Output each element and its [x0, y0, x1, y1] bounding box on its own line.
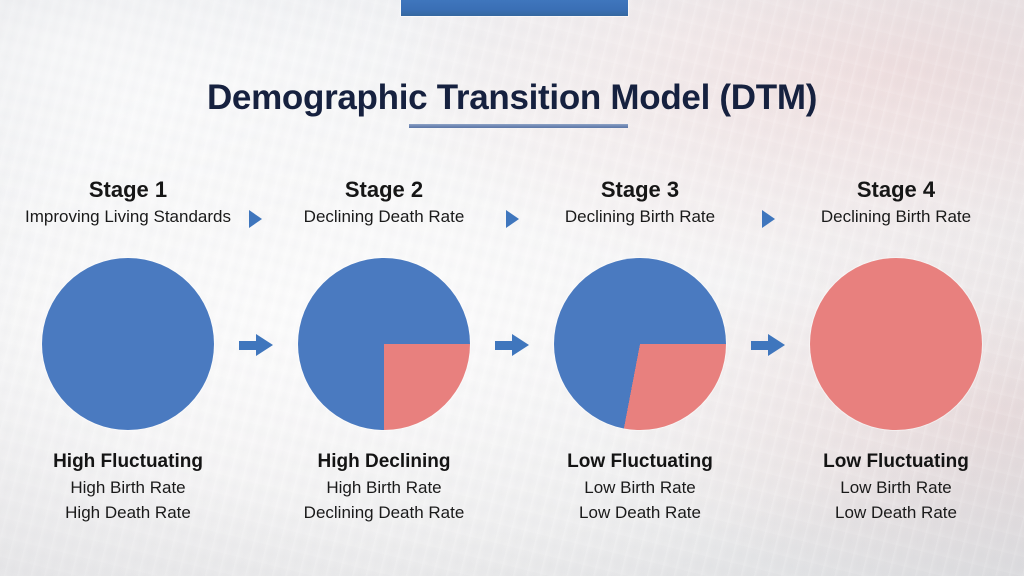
pie-chart-row	[0, 256, 1024, 432]
stage-footer-row: High Fluctuating High Birth Rate High De…	[0, 448, 1024, 525]
stage-footer-3: Low Fluctuating Low Birth Rate Low Death…	[512, 448, 768, 525]
footer-line2-1: High Death Rate	[0, 500, 256, 525]
pie-chart-stage-1	[42, 258, 214, 430]
pie-chart-stage-3	[554, 258, 726, 430]
stage-footer-2: High Declining High Birth Rate Declining…	[256, 448, 512, 525]
page-title: Demographic Transition Model (DTM)	[0, 78, 1024, 118]
footer-line1-2: High Birth Rate	[256, 475, 512, 500]
stage-title-3: Stage 3	[512, 176, 768, 204]
footer-line1-3: Low Birth Rate	[512, 475, 768, 500]
pie-cell-1	[0, 256, 256, 432]
pie-cell-4	[768, 256, 1024, 432]
stage-header-1: Stage 1 Improving Living Standards	[0, 176, 256, 242]
stage-header-2: Stage 2 Declining Death Rate	[256, 176, 512, 242]
footer-line2-3: Low Death Rate	[512, 500, 768, 525]
footer-line1-4: Low Birth Rate	[768, 475, 1024, 500]
title-underline	[409, 124, 628, 128]
footer-title-2: High Declining	[256, 448, 512, 475]
stage-title-2: Stage 2	[256, 176, 512, 204]
stage-footer-1: High Fluctuating High Birth Rate High De…	[0, 448, 256, 525]
footer-title-1: High Fluctuating	[0, 448, 256, 475]
stage-subtitle-1: Improving Living Standards	[0, 205, 256, 229]
slide-canvas: Demographic Transition Model (DTM) Stage…	[0, 0, 1024, 576]
top-accent-bar	[401, 0, 628, 16]
stage-subtitle-3: Declining Birth Rate	[512, 205, 768, 229]
stage-footer-4: Low Fluctuating Low Birth Rate Low Death…	[768, 448, 1024, 525]
footer-line2-2: Declining Death Rate	[256, 500, 512, 525]
stage-subtitle-4: Declining Birth Rate	[768, 205, 1024, 229]
stage-subtitle-2: Declining Death Rate	[256, 205, 512, 229]
pie-cell-3	[512, 256, 768, 432]
stage-title-4: Stage 4	[768, 176, 1024, 204]
stage-header-row: Stage 1 Improving Living Standards Stage…	[0, 176, 1024, 242]
footer-line1-1: High Birth Rate	[0, 475, 256, 500]
stage-header-4: Stage 4 Declining Birth Rate	[768, 176, 1024, 242]
footer-title-3: Low Fluctuating	[512, 448, 768, 475]
footer-line2-4: Low Death Rate	[768, 500, 1024, 525]
stage-header-3: Stage 3 Declining Birth Rate	[512, 176, 768, 242]
footer-title-4: Low Fluctuating	[768, 448, 1024, 475]
pie-chart-stage-4	[810, 258, 982, 430]
pie-chart-stage-2	[298, 258, 470, 430]
pie-cell-2	[256, 256, 512, 432]
stage-title-1: Stage 1	[0, 176, 256, 204]
